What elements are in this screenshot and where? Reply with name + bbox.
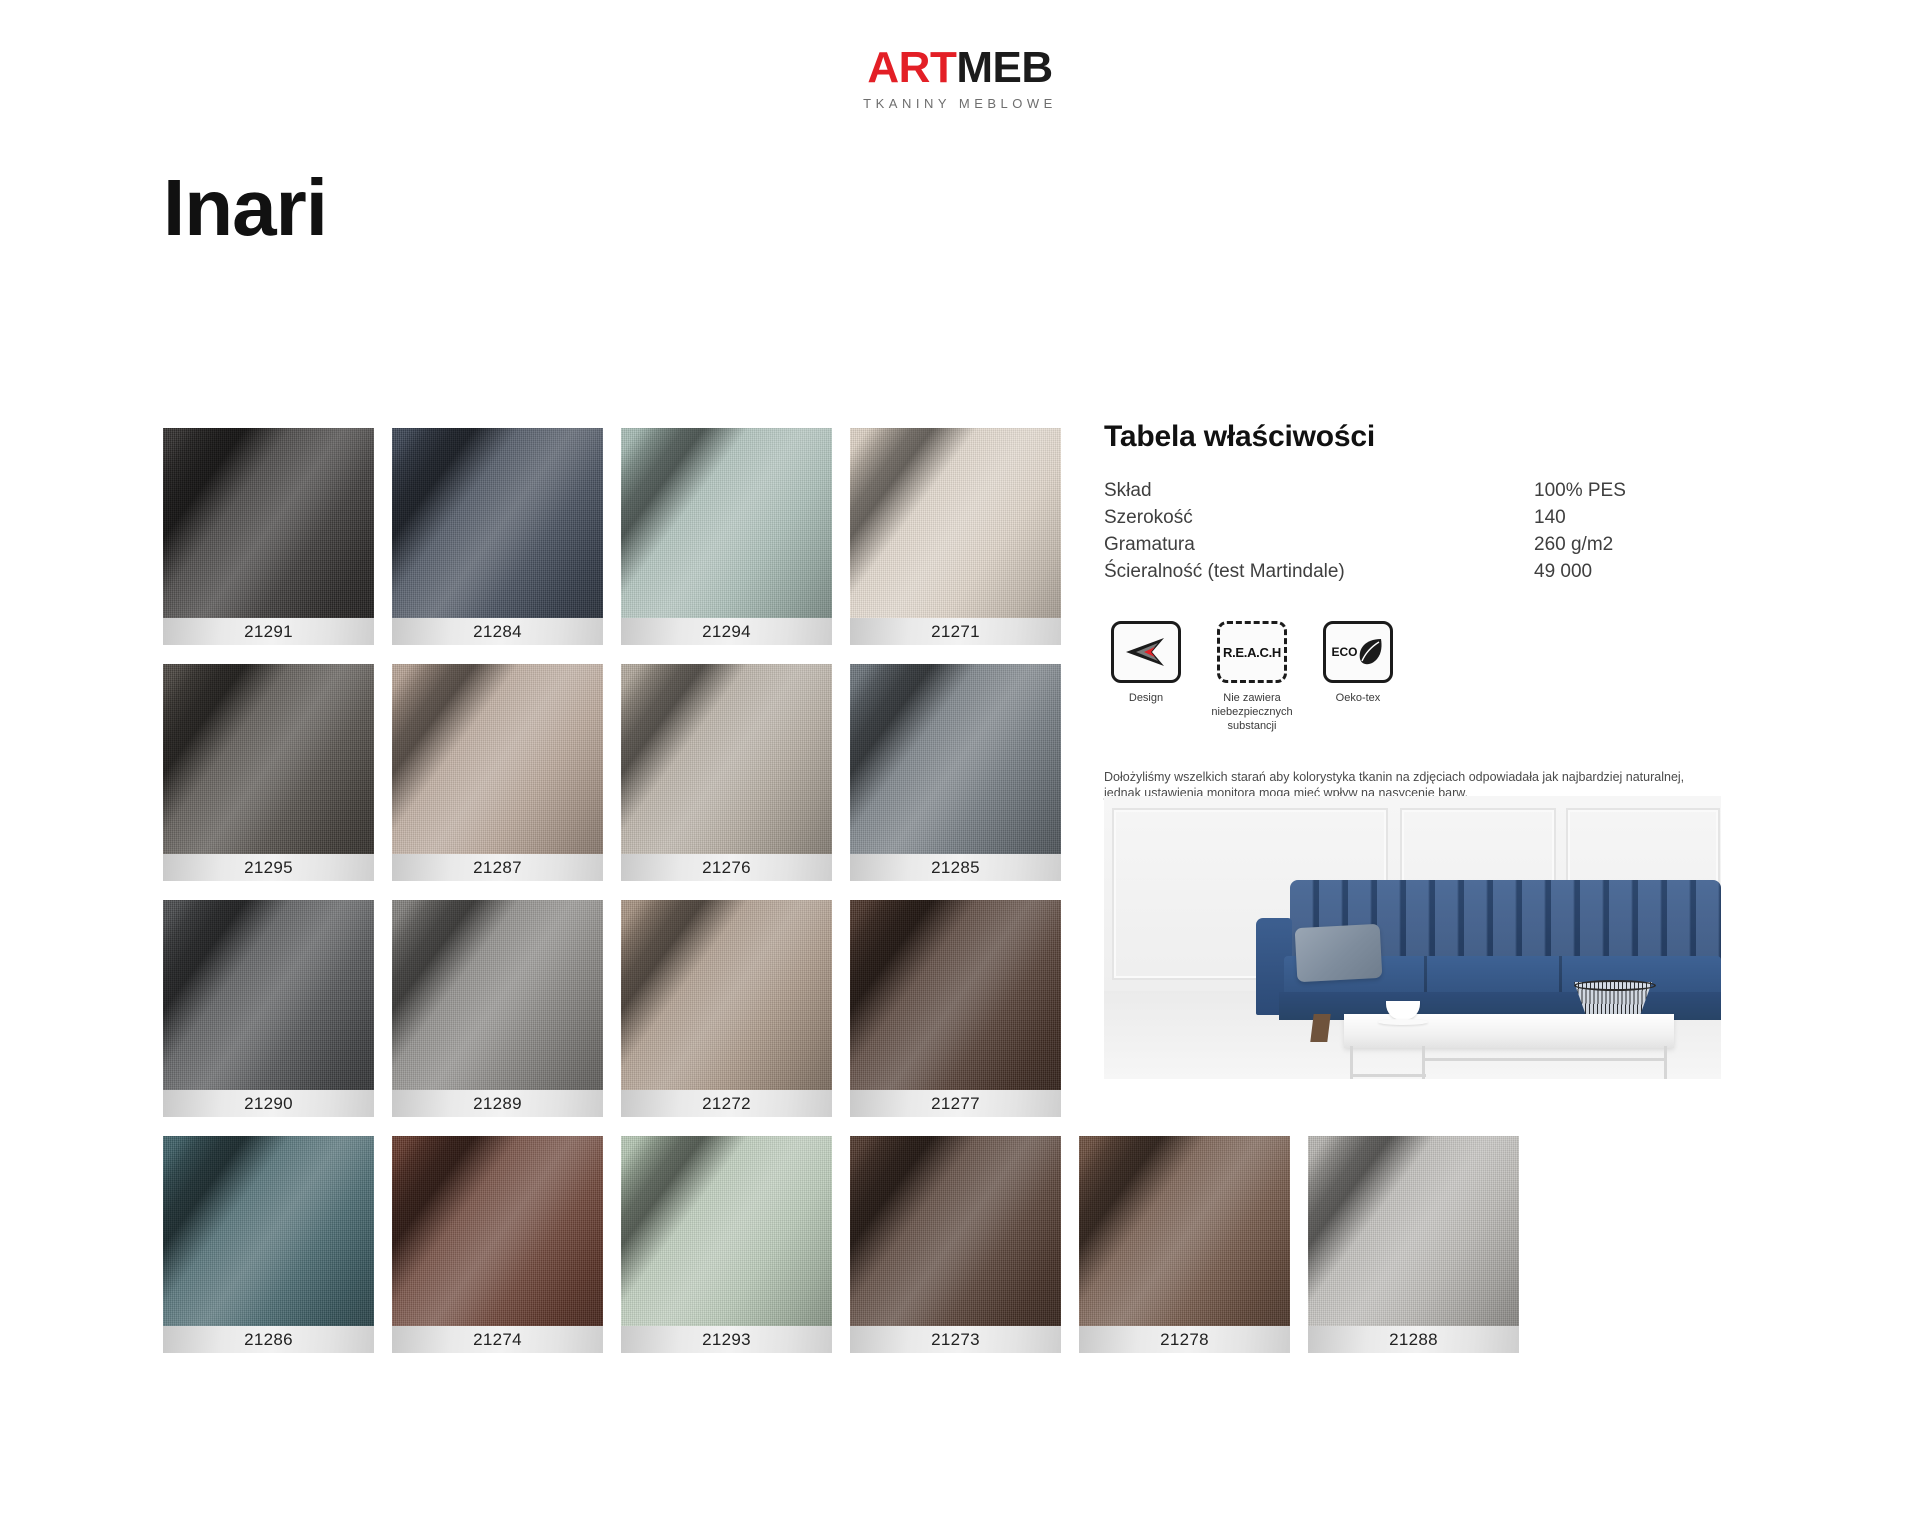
- fabric-fold-highlight: [163, 1136, 374, 1326]
- throw-pillow: [1295, 924, 1383, 982]
- fabric-fold-highlight: [163, 900, 374, 1090]
- fabric-photo: [1308, 1136, 1519, 1326]
- fabric-swatch[interactable]: 21286: [163, 1136, 374, 1353]
- fabric-swatch[interactable]: 21285: [850, 664, 1061, 881]
- swatch-code-label: 21274: [392, 1326, 603, 1353]
- property-value: 49 000: [1534, 561, 1724, 588]
- fabric-photo: [392, 428, 603, 618]
- fabric-swatch[interactable]: 21274: [392, 1136, 603, 1353]
- badge-design: Design: [1104, 621, 1188, 733]
- table-row: Szerokość 140: [1104, 507, 1724, 534]
- eco-leaf-icon: [1355, 635, 1385, 669]
- swatch-code-label: 21295: [163, 854, 374, 881]
- swatch-code-label: 21273: [850, 1326, 1061, 1353]
- brand-logo: ARTMEB TKANINY MEBLOWE: [0, 46, 1920, 111]
- fabric-photo: [163, 1136, 374, 1326]
- badge-reach: R.E.A.C.H Nie zawiera niebezpiecznych su…: [1210, 621, 1294, 733]
- fabric-photo: [850, 900, 1061, 1090]
- swatch-code-label: 21294: [621, 618, 832, 645]
- property-label: Szerokość: [1104, 507, 1534, 534]
- fabric-photo: [163, 900, 374, 1090]
- fabric-swatch[interactable]: 21284: [392, 428, 603, 645]
- fabric-swatch[interactable]: 21291: [163, 428, 374, 645]
- property-value: 260 g/m2: [1534, 534, 1724, 561]
- fabric-fold-highlight: [163, 664, 374, 854]
- reach-badge-box: R.E.A.C.H: [1217, 621, 1287, 683]
- fabric-swatch[interactable]: 21290: [163, 900, 374, 1117]
- fabric-photo: [850, 1136, 1061, 1326]
- fabric-swatch[interactable]: 21272: [621, 900, 832, 1117]
- fabric-photo: [1079, 1136, 1290, 1326]
- badge-caption: Oeko-tex: [1316, 691, 1400, 705]
- property-value: 100% PES: [1534, 480, 1724, 507]
- properties-title: Tabela właściwości: [1104, 420, 1724, 454]
- fabric-fold-highlight: [621, 1136, 832, 1326]
- fabric-swatch[interactable]: 21276: [621, 664, 832, 881]
- fabric-photo: [621, 1136, 832, 1326]
- fabric-swatch[interactable]: 21287: [392, 664, 603, 881]
- swatch-code-label: 21286: [163, 1326, 374, 1353]
- swatch-code-label: 21287: [392, 854, 603, 881]
- fabric-swatch[interactable]: 21294: [621, 428, 832, 645]
- fabric-photo: [392, 664, 603, 854]
- swatch-code-label: 21290: [163, 1090, 374, 1117]
- fabric-fold-highlight: [850, 900, 1061, 1090]
- fabric-fold-highlight: [392, 900, 603, 1090]
- badge-oekotex: ECO Oeko-tex: [1316, 621, 1400, 733]
- swatch-code-label: 21278: [1079, 1326, 1290, 1353]
- fabric-photo: [621, 664, 832, 854]
- fabric-fold-highlight: [163, 428, 374, 618]
- logo-tagline: TKANINY MEBLOWE: [0, 96, 1920, 111]
- fabric-swatch[interactable]: 21277: [850, 900, 1061, 1117]
- sofa-interior-photo: [1104, 796, 1721, 1079]
- badge-caption: Design: [1104, 691, 1188, 705]
- fabric-fold-highlight: [850, 664, 1061, 854]
- swatch-code-label: 21293: [621, 1326, 832, 1353]
- swatch-code-label: 21284: [392, 618, 603, 645]
- properties-panel: Tabela właściwości Skład 100% PES Szerok…: [1104, 420, 1724, 833]
- fabric-fold-highlight: [392, 1136, 603, 1326]
- cup-saucer: [1378, 1019, 1428, 1025]
- certification-badges: Design R.E.A.C.H Nie zawiera niebezpiecz…: [1104, 621, 1724, 733]
- fabric-fold-highlight: [392, 664, 603, 854]
- table-row: Gramatura 260 g/m2: [1104, 534, 1724, 561]
- fabric-photo: [163, 428, 374, 618]
- logo-art-text: ART: [867, 43, 956, 92]
- table-leg: [1664, 1046, 1667, 1079]
- fabric-photo: [163, 664, 374, 854]
- design-triangle-icon: [1124, 635, 1168, 669]
- property-value: 140: [1534, 507, 1724, 534]
- fabric-swatch[interactable]: 21293: [621, 1136, 832, 1353]
- fabric-photo: [621, 428, 832, 618]
- fabric-swatch[interactable]: 21271: [850, 428, 1061, 645]
- swatch-code-label: 21271: [850, 618, 1061, 645]
- badge-caption: Nie zawiera niebezpiecznych substancji: [1210, 691, 1294, 733]
- logo-wordmark: ARTMEB: [0, 46, 1920, 90]
- logo-meb-text: MEB: [956, 43, 1052, 92]
- fabric-swatch[interactable]: 21278: [1079, 1136, 1290, 1353]
- fabric-fold-highlight: [1308, 1136, 1519, 1326]
- table-row: Ścieralność (test Martindale) 49 000: [1104, 561, 1724, 588]
- swatch-code-label: 21272: [621, 1090, 832, 1117]
- property-label: Ścieralność (test Martindale): [1104, 561, 1534, 588]
- property-label: Skład: [1104, 480, 1534, 507]
- fabric-photo: [850, 428, 1061, 618]
- swatch-row: 21286 21274 21293: [163, 1136, 1463, 1353]
- table-rail: [1350, 1074, 1426, 1077]
- wire-basket-rim: [1574, 980, 1656, 991]
- swatch-code-label: 21288: [1308, 1326, 1519, 1353]
- fabric-fold-highlight: [1079, 1136, 1290, 1326]
- fabric-fold-highlight: [850, 1136, 1061, 1326]
- fabric-fold-highlight: [392, 428, 603, 618]
- swatch-code-label: 21276: [621, 854, 832, 881]
- fabric-photo: [392, 900, 603, 1090]
- fabric-photo: [850, 664, 1061, 854]
- fabric-swatch[interactable]: 21273: [850, 1136, 1061, 1353]
- table-rail: [1422, 1058, 1666, 1061]
- fabric-fold-highlight: [850, 428, 1061, 618]
- fabric-fold-highlight: [621, 428, 832, 618]
- swatch-code-label: 21289: [392, 1090, 603, 1117]
- page-title: Inari: [163, 168, 327, 248]
- property-label: Gramatura: [1104, 534, 1534, 561]
- fabric-photo: [621, 900, 832, 1090]
- fabric-photo: [392, 1136, 603, 1326]
- oekotex-badge-box: ECO: [1323, 621, 1393, 683]
- design-badge-box: [1111, 621, 1181, 683]
- swatch-code-label: 21285: [850, 854, 1061, 881]
- fabric-fold-highlight: [621, 900, 832, 1090]
- fabric-swatch[interactable]: 21289: [392, 900, 603, 1117]
- properties-table: Skład 100% PES Szerokość 140 Gramatura 2…: [1104, 480, 1724, 588]
- fabric-swatch[interactable]: 21295: [163, 664, 374, 881]
- fabric-swatch[interactable]: 21288: [1308, 1136, 1519, 1353]
- fabric-fold-highlight: [621, 664, 832, 854]
- reach-icon: R.E.A.C.H: [1223, 645, 1281, 660]
- swatch-code-label: 21277: [850, 1090, 1061, 1117]
- sofa-leg: [1310, 1014, 1330, 1042]
- table-row: Skład 100% PES: [1104, 480, 1724, 507]
- swatch-code-label: 21291: [163, 618, 374, 645]
